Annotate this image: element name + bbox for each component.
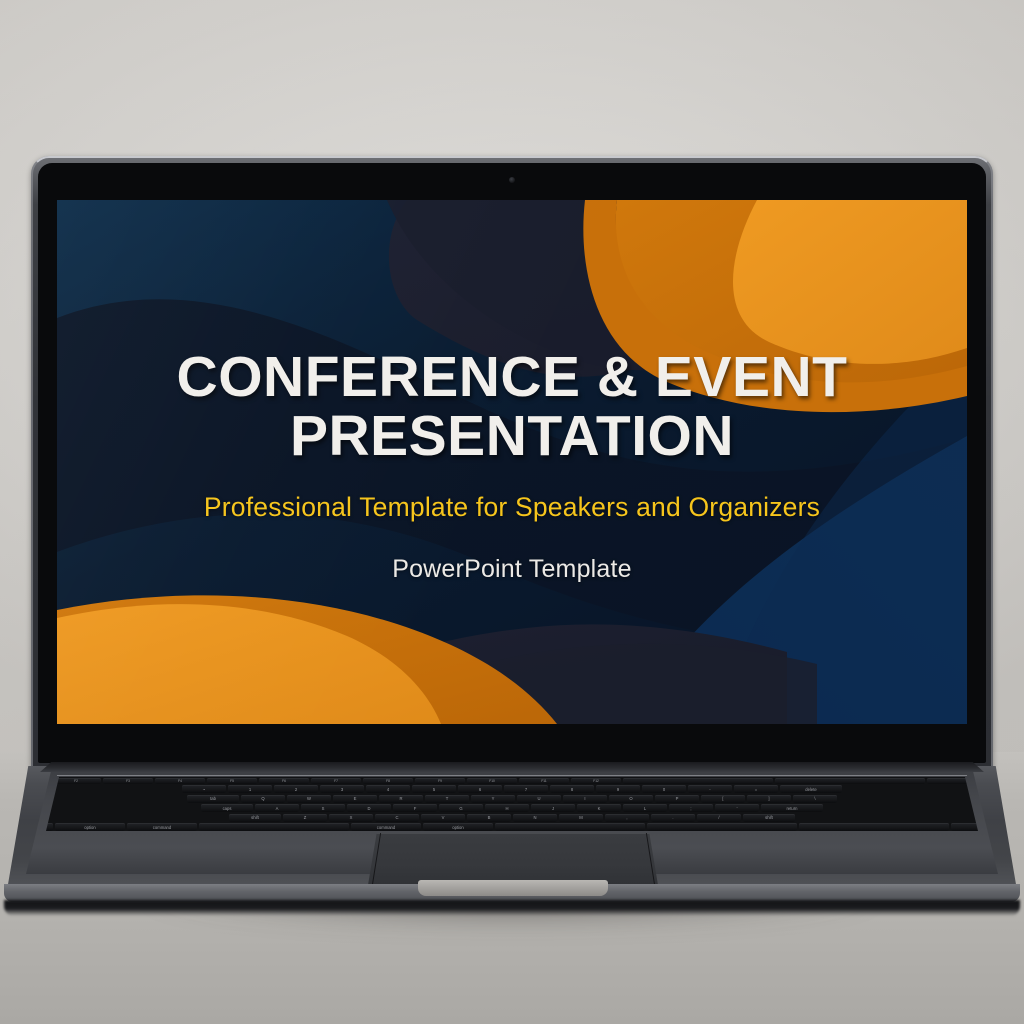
keyboard-key[interactable]: Q <box>241 795 285 803</box>
keyboard-key[interactable]: return <box>761 804 823 812</box>
keyboard-key[interactable]: Y <box>471 795 515 803</box>
keyboard-key[interactable]: C <box>375 814 419 822</box>
keyboard-key[interactable]: U <box>517 795 561 803</box>
keyboard-key[interactable]: , <box>605 814 649 822</box>
keyboard-row: tabQWERTYUIOP[]\ <box>46 795 978 804</box>
keyboard-key[interactable]: N <box>513 814 557 822</box>
keyboard-key[interactable]: tab <box>187 795 239 803</box>
slide-title-line-1: CONFERENCE & EVENT <box>177 345 848 409</box>
keyboard-row: fncontroloptioncommandcommandoption <box>46 823 978 831</box>
keyboard-key[interactable]: B <box>467 814 511 822</box>
keyboard-key[interactable]: A <box>255 804 299 812</box>
keyboard-key[interactable]: O <box>609 795 653 803</box>
keyboard-key[interactable]: ' <box>715 804 759 812</box>
keyboard-key[interactable]: option <box>55 823 125 831</box>
keyboard-key[interactable]: 4 <box>366 785 410 793</box>
keyboard-key[interactable]: F6 <box>259 778 309 784</box>
slide-subtitle: Professional Template for Speakers and O… <box>204 492 820 523</box>
keyboard-key[interactable]: F <box>393 804 437 812</box>
keyboard-key[interactable] <box>951 823 978 831</box>
scene-root: CONFERENCE & EVENT PRESENTATION Professi… <box>0 0 1024 1024</box>
keyboard-key[interactable]: F11 <box>519 778 569 784</box>
keyboard-key[interactable]: F5 <box>207 778 257 784</box>
keyboard-key[interactable] <box>623 778 773 784</box>
keyboard-key[interactable]: command <box>351 823 421 831</box>
keyboard-key[interactable]: W <box>287 795 331 803</box>
keyboard-key[interactable]: delete <box>780 785 842 793</box>
slide-title: CONFERENCE & EVENT PRESENTATION <box>177 348 848 465</box>
keyboard-key[interactable]: S <box>301 804 345 812</box>
keyboard-key[interactable]: - <box>688 785 732 793</box>
keyboard-key[interactable]: T <box>425 795 469 803</box>
keyboard-key[interactable]: G <box>439 804 483 812</box>
keyboard-key[interactable]: F10 <box>467 778 517 784</box>
trackpad[interactable] <box>368 833 658 885</box>
keyboard-key[interactable] <box>799 823 949 831</box>
keyboard-key[interactable] <box>199 823 349 831</box>
keyboard-key[interactable] <box>775 778 925 784</box>
keyboard-key[interactable]: I <box>563 795 607 803</box>
keyboard-key[interactable]: 5 <box>412 785 456 793</box>
keyboard-key[interactable]: F9 <box>415 778 465 784</box>
keyboard-key[interactable] <box>647 823 797 831</box>
keyboard[interactable]: escF1F2F3F4F5F6F7F8F9F10F11F12~123456789… <box>46 777 978 831</box>
keyboard-key[interactable] <box>495 823 645 831</box>
keyboard-key[interactable]: \ <box>793 795 837 803</box>
keyboard-key[interactable]: V <box>421 814 465 822</box>
keyboard-row: ~1234567890-=delete <box>46 785 978 794</box>
keyboard-key[interactable]: E <box>333 795 377 803</box>
laptop-screen[interactable]: CONFERENCE & EVENT PRESENTATION Professi… <box>57 200 967 724</box>
slide-title-line-2: PRESENTATION <box>290 404 734 468</box>
keyboard-key[interactable]: ~ <box>182 785 226 793</box>
keyboard-key[interactable]: option <box>423 823 493 831</box>
keyboard-key[interactable]: P <box>655 795 699 803</box>
keyboard-key[interactable]: . <box>651 814 695 822</box>
keyboard-key[interactable]: 8 <box>550 785 594 793</box>
webcam-icon <box>509 177 515 183</box>
laptop-device: CONFERENCE & EVENT PRESENTATION Professi… <box>0 0 1024 1024</box>
keyboard-key[interactable]: M <box>559 814 603 822</box>
keyboard-key[interactable]: R <box>379 795 423 803</box>
keyboard-key[interactable]: caps <box>201 804 253 812</box>
keyboard-key[interactable]: X <box>329 814 373 822</box>
keyboard-key[interactable]: F8 <box>363 778 413 784</box>
keyboard-key[interactable]: command <box>127 823 197 831</box>
keyboard-key[interactable]: ; <box>669 804 713 812</box>
keyboard-key[interactable]: 1 <box>228 785 272 793</box>
keyboard-key[interactable]: Z <box>283 814 327 822</box>
slide-text-block: CONFERENCE & EVENT PRESENTATION Professi… <box>57 200 967 724</box>
keyboard-key[interactable]: shift <box>743 814 795 822</box>
lid-open-notch[interactable] <box>418 880 608 896</box>
keyboard-key[interactable]: ] <box>747 795 791 803</box>
keyboard-key[interactable]: K <box>577 804 621 812</box>
keyboard-row: shiftZXCVBNM,./shift <box>46 814 978 823</box>
keyboard-key[interactable]: J <box>531 804 575 812</box>
keyboard-key[interactable]: / <box>697 814 741 822</box>
keyboard-row: escF1F2F3F4F5F6F7F8F9F10F11F12 <box>46 778 978 785</box>
keyboard-row: capsASDFGHJKL;'return <box>46 804 978 813</box>
keyboard-key[interactable]: H <box>485 804 529 812</box>
keyboard-key[interactable]: 7 <box>504 785 548 793</box>
keyboard-key[interactable]: 9 <box>596 785 640 793</box>
keyboard-key[interactable]: D <box>347 804 391 812</box>
keyboard-key[interactable]: 2 <box>274 785 318 793</box>
keyboard-key[interactable]: F3 <box>103 778 153 784</box>
keyboard-key[interactable]: [ <box>701 795 745 803</box>
slide-note: PowerPoint Template <box>392 555 632 584</box>
keyboard-key[interactable]: 3 <box>320 785 364 793</box>
presentation-slide: CONFERENCE & EVENT PRESENTATION Professi… <box>57 200 967 724</box>
front-lip-shadow <box>4 900 1020 916</box>
keyboard-key[interactable]: 6 <box>458 785 502 793</box>
keyboard-key[interactable]: F7 <box>311 778 361 784</box>
keyboard-key[interactable]: L <box>623 804 667 812</box>
keyboard-key[interactable]: = <box>734 785 778 793</box>
laptop-hinge <box>40 762 984 772</box>
keyboard-key[interactable]: shift <box>229 814 281 822</box>
keyboard-key[interactable]: F12 <box>571 778 621 784</box>
keyboard-key[interactable]: F4 <box>155 778 205 784</box>
keyboard-key[interactable]: 0 <box>642 785 686 793</box>
